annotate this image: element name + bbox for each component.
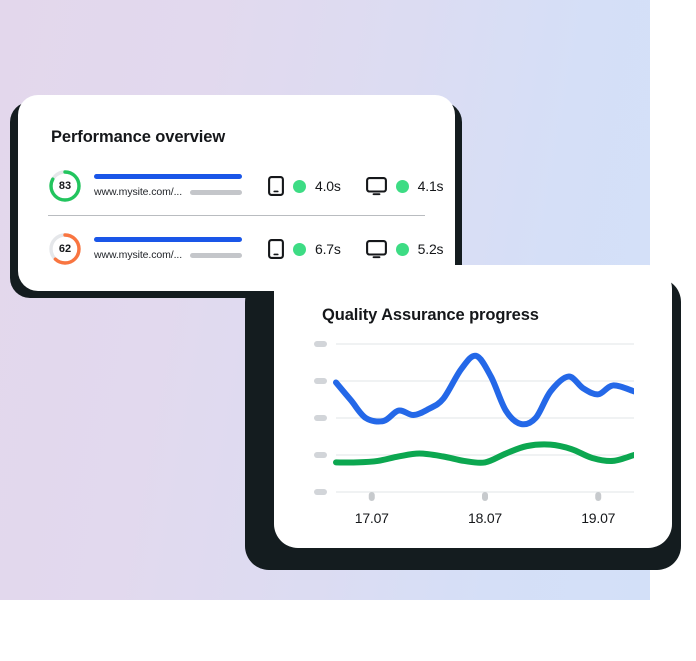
status-badge (293, 180, 306, 193)
mobile-icon (268, 239, 284, 259)
metric-mobile: 4.0s (268, 176, 341, 196)
score-gauge: 62 (48, 232, 82, 266)
chart-line-blue-series (336, 356, 634, 425)
chart-x-axis-labels: 17.0718.0719.07 (314, 510, 634, 532)
mobile-icon (268, 176, 284, 196)
progress-bar-placeholder (190, 253, 242, 258)
y-tick-placeholder (314, 489, 327, 495)
metric-mobile: 6.7s (268, 239, 341, 259)
x-axis-label: 18.07 (468, 510, 502, 526)
row-divider (48, 215, 425, 216)
x-tick-mark (482, 492, 488, 501)
url-progress-group: www.mysite.com/... (94, 237, 246, 261)
qa-line-chart (314, 340, 634, 510)
progress-bar-blue (94, 174, 242, 179)
metric-value: 4.1s (418, 178, 444, 194)
x-axis-label: 19.07 (581, 510, 615, 526)
x-axis-label: 17.07 (355, 510, 389, 526)
performance-overview-card: Performance overview 83 www.mysite.com/.… (18, 95, 455, 291)
quality-assurance-card: Quality Assurance progress 17.0718.0719.… (274, 265, 672, 548)
chart-y-tick-placeholders (314, 341, 327, 495)
chart-x-tick-marks (369, 492, 601, 501)
score-value: 62 (48, 232, 82, 266)
y-tick-placeholder (314, 415, 327, 421)
status-badge (396, 180, 409, 193)
score-value: 83 (48, 169, 82, 203)
metric-desktop: 5.2s (366, 240, 444, 259)
progress-bar-blue (94, 237, 242, 242)
score-gauge: 83 (48, 169, 82, 203)
y-tick-placeholder (314, 452, 327, 458)
site-url: www.mysite.com/... (94, 249, 182, 261)
desktop-icon (366, 240, 387, 259)
table-row[interactable]: 83 www.mysite.com/... 4.0s (48, 163, 433, 209)
y-tick-placeholder (314, 341, 327, 347)
metric-value: 5.2s (418, 241, 444, 257)
url-progress-group: www.mysite.com/... (94, 174, 246, 198)
page-title: Performance overview (51, 128, 225, 147)
chart-series-lines (336, 356, 634, 463)
status-badge (396, 243, 409, 256)
metric-desktop: 4.1s (366, 177, 444, 196)
y-tick-placeholder (314, 378, 327, 384)
x-tick-mark (595, 492, 601, 501)
metric-value: 4.0s (315, 178, 341, 194)
chart-line-green-series (336, 444, 634, 462)
site-url: www.mysite.com/... (94, 186, 182, 198)
desktop-icon (366, 177, 387, 196)
metric-value: 6.7s (315, 241, 341, 257)
progress-bar-placeholder (190, 190, 242, 195)
x-tick-mark (369, 492, 375, 501)
chart-title: Quality Assurance progress (322, 306, 539, 325)
status-badge (293, 243, 306, 256)
